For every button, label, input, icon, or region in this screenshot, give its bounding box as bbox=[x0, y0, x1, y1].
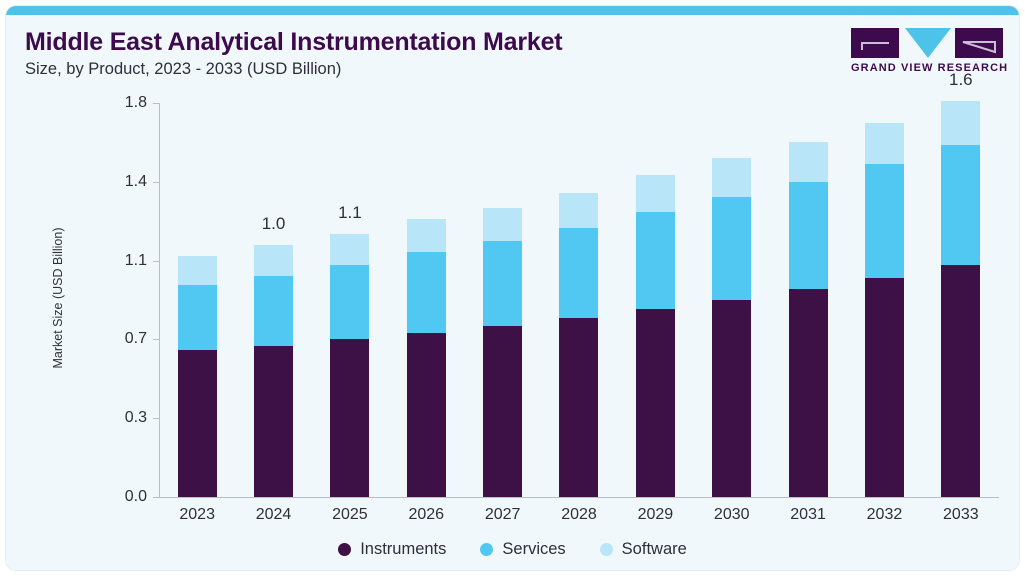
legend-label: Software bbox=[622, 540, 687, 559]
bar-segment-software bbox=[789, 142, 828, 181]
chart-card: Middle East Analytical Instrumentation M… bbox=[6, 6, 1019, 570]
x-tick-label: 2023 bbox=[157, 506, 237, 524]
bar-segment-services bbox=[559, 228, 598, 318]
y-tick-label: 1.1 bbox=[101, 252, 147, 270]
bar-value-label: 1.1 bbox=[310, 203, 390, 223]
bar-segment-instruments bbox=[789, 289, 828, 497]
bar-segment-instruments bbox=[712, 300, 751, 497]
x-tick-label: 2025 bbox=[310, 506, 390, 524]
legend-label: Services bbox=[502, 540, 565, 559]
bar-segment-services bbox=[636, 212, 675, 308]
x-tick-label: 2029 bbox=[615, 506, 695, 524]
bar-segment-services bbox=[407, 252, 446, 333]
bar-segment-software bbox=[330, 234, 369, 265]
legend-swatch-icon bbox=[480, 543, 493, 556]
x-tick-label: 2030 bbox=[692, 506, 772, 524]
x-tick-label: 2032 bbox=[844, 506, 924, 524]
chart-plot-area: Market Size (USD Billion) 0.00.30.71.11.… bbox=[6, 6, 1019, 570]
bar-segment-services bbox=[712, 197, 751, 300]
bar-segment-instruments bbox=[941, 265, 980, 497]
y-tick-mark bbox=[153, 418, 159, 419]
x-tick-label: 2033 bbox=[921, 506, 1001, 524]
bar-segment-software bbox=[178, 256, 217, 284]
bar-segment-instruments bbox=[559, 318, 598, 497]
bar-segment-software bbox=[559, 193, 598, 228]
legend-item[interactable]: Software bbox=[600, 540, 687, 559]
x-axis-line bbox=[159, 497, 999, 498]
legend-item[interactable]: Services bbox=[480, 540, 565, 559]
bar-segment-services bbox=[483, 241, 522, 326]
bar-segment-software bbox=[483, 208, 522, 241]
y-tick-label: 0.3 bbox=[101, 409, 147, 427]
bar-value-label: 1.0 bbox=[234, 214, 314, 234]
bar-segment-software bbox=[254, 245, 293, 276]
bar-value-label: 1.6 bbox=[921, 70, 1001, 90]
bar-segment-instruments bbox=[407, 333, 446, 497]
y-tick-mark bbox=[153, 339, 159, 340]
bar-segment-software bbox=[407, 219, 446, 252]
y-tick-mark bbox=[153, 261, 159, 262]
y-tick-label: 0.0 bbox=[101, 488, 147, 506]
bar-segment-services bbox=[865, 164, 904, 278]
y-tick-mark bbox=[153, 103, 159, 104]
x-tick-label: 2024 bbox=[234, 506, 314, 524]
y-tick-label: 1.8 bbox=[101, 94, 147, 112]
y-tick-mark bbox=[153, 497, 159, 498]
bar-segment-software bbox=[636, 175, 675, 212]
bar-segment-services bbox=[330, 265, 369, 339]
legend-swatch-icon bbox=[338, 543, 351, 556]
legend-swatch-icon bbox=[600, 543, 613, 556]
bar-segment-software bbox=[712, 158, 751, 197]
y-tick-label: 1.4 bbox=[101, 173, 147, 191]
x-tick-label: 2031 bbox=[768, 506, 848, 524]
bar-segment-instruments bbox=[636, 309, 675, 497]
bar-segment-instruments bbox=[865, 278, 904, 497]
x-tick-label: 2026 bbox=[386, 506, 466, 524]
y-axis-line bbox=[159, 103, 160, 497]
bar-segment-services bbox=[941, 145, 980, 265]
bar-segment-services bbox=[178, 285, 217, 351]
bar-segment-instruments bbox=[483, 326, 522, 497]
y-tick-mark bbox=[153, 182, 159, 183]
bar-segment-software bbox=[941, 101, 980, 145]
chart-legend: InstrumentsServicesSoftware bbox=[6, 540, 1019, 559]
bar-segment-services bbox=[789, 182, 828, 289]
y-tick-label: 0.7 bbox=[101, 330, 147, 348]
bar-segment-instruments bbox=[330, 339, 369, 497]
bar-segment-software bbox=[865, 123, 904, 165]
bar-segment-services bbox=[254, 276, 293, 346]
y-axis-title: Market Size (USD Billion) bbox=[51, 203, 65, 393]
legend-label: Instruments bbox=[360, 540, 446, 559]
bar-segment-instruments bbox=[178, 350, 217, 497]
x-tick-label: 2027 bbox=[463, 506, 543, 524]
legend-item[interactable]: Instruments bbox=[338, 540, 446, 559]
x-tick-label: 2028 bbox=[539, 506, 619, 524]
bar-segment-instruments bbox=[254, 346, 293, 497]
